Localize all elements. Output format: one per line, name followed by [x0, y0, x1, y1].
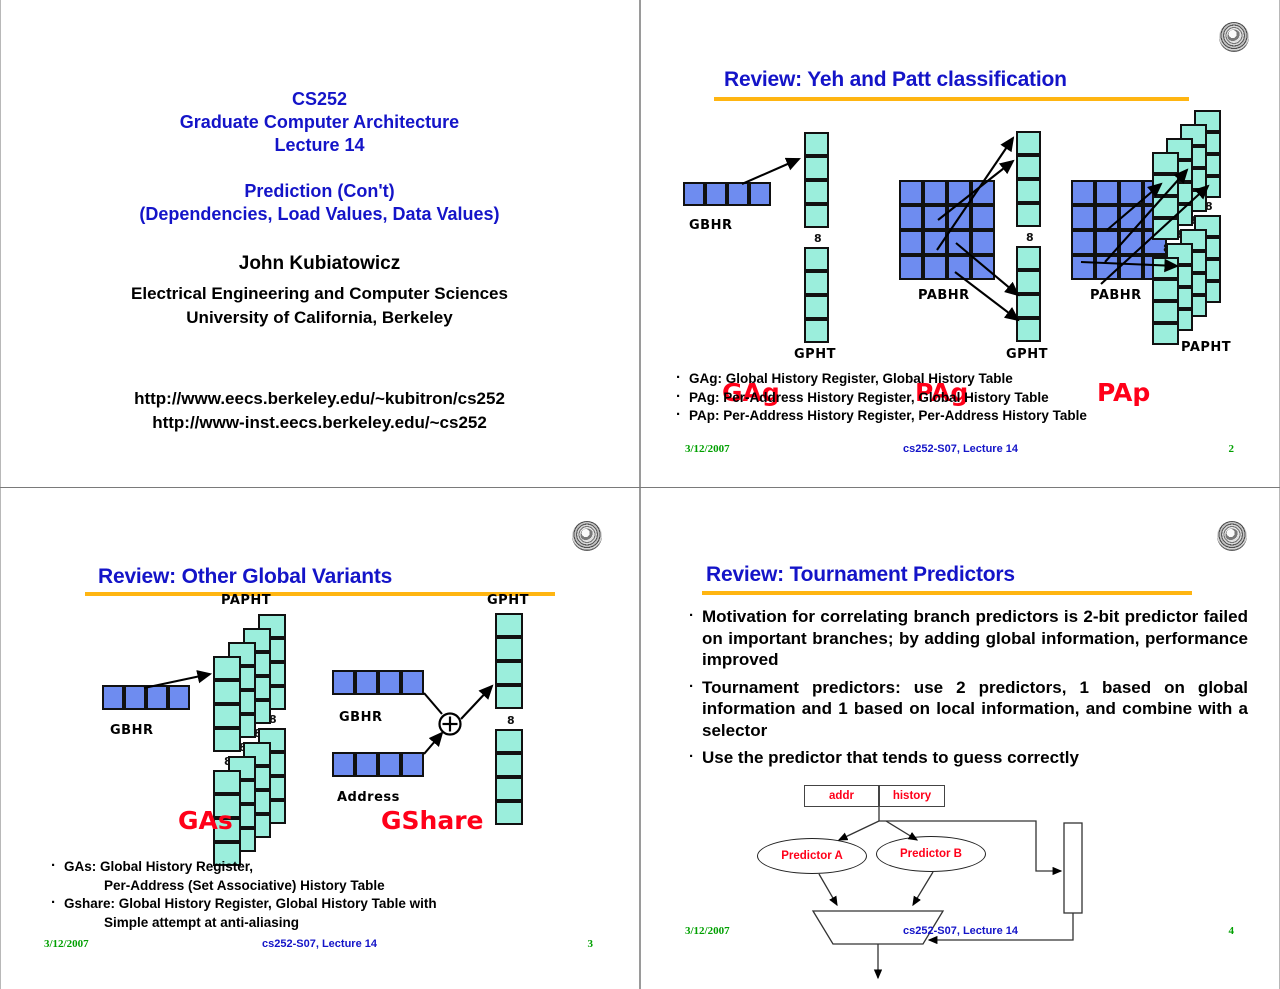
- footer-page-number: 2: [1229, 443, 1235, 455]
- course-url-2[interactable]: http://www-inst.eecs.berkeley.edu/~cs252: [0, 411, 639, 435]
- slide-3-title-underline: [85, 592, 555, 596]
- subtitle-line-2: (Dependencies, Load Values, Data Values): [0, 203, 639, 226]
- footer-center-text: cs252-S07, Lecture 14: [641, 443, 1280, 455]
- slide-4-tournament-predictors[interactable]: Review: Tournament Predictors Motivation…: [641, 488, 1280, 989]
- pag-register-label: PABHR: [918, 288, 970, 303]
- gag-register-label: GBHR: [689, 218, 732, 233]
- affiliation-line-2: University of California, Berkeley: [0, 306, 639, 330]
- gag-continuation-dots: 8: [814, 237, 819, 240]
- berkeley-seal-icon: [1219, 22, 1249, 52]
- bullet-line-2: Per-Address (Set Associative) History Ta…: [64, 877, 385, 896]
- slide-3-title: Review: Other Global Variants: [98, 565, 392, 589]
- footer-page-number: 4: [1229, 925, 1235, 937]
- gshare-name-label: GShare: [381, 806, 483, 835]
- gas-name-label: GAs: [178, 806, 233, 835]
- footer-center-text: cs252-S07, Lecture 14: [0, 938, 639, 950]
- course-title-line-2: Graduate Computer Architecture: [0, 111, 639, 134]
- gag-table-label: GPHT: [794, 347, 836, 362]
- gshare-register-label: GBHR: [339, 710, 382, 725]
- bullet-line-1: GAs: Global History Register,: [64, 859, 253, 874]
- gas-register-label: GBHR: [110, 723, 153, 738]
- slide-4-bullets: Motivation for correlating branch predic…: [686, 606, 1248, 775]
- bullet-line-2: Simple attempt at anti-aliasing: [64, 914, 299, 933]
- slide-1-title[interactable]: CS252 Graduate Computer Architecture Lec…: [0, 0, 639, 487]
- pap-register-label: PABHR: [1090, 288, 1142, 303]
- history-box: history: [879, 785, 945, 807]
- slide-3-other-global-variants[interactable]: Review: Other Global Variants PAPHT GBHR…: [0, 488, 639, 989]
- bullet-line-1: Gshare: Global History Register, Global …: [64, 896, 437, 911]
- slide-4-title: Review: Tournament Predictors: [706, 563, 1015, 587]
- pag-continuation-dots: 8: [1026, 236, 1031, 239]
- slide-2-title: Review: Yeh and Patt classification: [724, 68, 1067, 92]
- subtitle-line-1: Prediction (Con't): [0, 180, 639, 203]
- bullet-item: Tournament predictors: use 2 predictors,…: [686, 677, 1248, 742]
- gas-table-label: PAPHT: [221, 593, 271, 608]
- handout-page: CS252 Graduate Computer Architecture Lec…: [0, 0, 1280, 989]
- footer-page-number: 3: [588, 938, 594, 950]
- bullet-item: PAg: Per-Address History Register, Globa…: [673, 389, 1253, 408]
- addr-box: addr: [804, 785, 879, 807]
- berkeley-seal-icon: [1217, 521, 1247, 551]
- slide-3-bullets: GAs: Global History Register, Per-Addres…: [48, 858, 608, 932]
- slide-4-footer: 3/12/2007 cs252-S07, Lecture 14 4: [641, 925, 1280, 939]
- bullet-item: Motivation for correlating branch predic…: [686, 606, 1248, 671]
- slide-2-title-underline: [714, 97, 1189, 101]
- pap-table-label: PAPHT: [1181, 340, 1231, 355]
- gshare-continuation-dots: 8: [507, 719, 512, 722]
- bullet-item: PAp: Per-Address History Register, Per-A…: [673, 407, 1253, 426]
- slide-2-footer: 3/12/2007 cs252-S07, Lecture 14 2: [641, 443, 1280, 457]
- predictor-a-ellipse: Predictor A: [757, 838, 867, 874]
- author-name: John Kubiatowicz: [0, 252, 639, 276]
- bullet-item: Use the predictor that tends to guess co…: [686, 747, 1248, 769]
- slide-3-footer: 3/12/2007 cs252-S07, Lecture 14 3: [0, 938, 639, 952]
- slide-4-title-underline: [702, 591, 1192, 595]
- bullet-item: Gshare: Global History Register, Global …: [48, 895, 608, 932]
- pag-table-label: GPHT: [1006, 347, 1048, 362]
- bullet-item: GAs: Global History Register, Per-Addres…: [48, 858, 608, 895]
- affiliation-line-1: Electrical Engineering and Computer Scie…: [0, 282, 639, 306]
- gshare-table-label: GPHT: [487, 593, 529, 608]
- gshare-address-label: Address: [337, 790, 400, 805]
- bullet-item: GAg: Global History Register, Global His…: [673, 370, 1253, 389]
- slide-2-yeh-patt[interactable]: Review: Yeh and Patt classification GBHR…: [641, 0, 1280, 487]
- berkeley-seal-icon: [572, 521, 602, 551]
- course-title-line-1: CS252: [0, 88, 639, 111]
- course-title-line-3: Lecture 14: [0, 134, 639, 157]
- predictor-b-ellipse: Predictor B: [876, 836, 986, 872]
- slide-2-bullets: GAg: Global History Register, Global His…: [673, 370, 1253, 426]
- footer-center-text: cs252-S07, Lecture 14: [641, 925, 1280, 937]
- course-url-1[interactable]: http://www.eecs.berkeley.edu/~kubitron/c…: [0, 387, 639, 411]
